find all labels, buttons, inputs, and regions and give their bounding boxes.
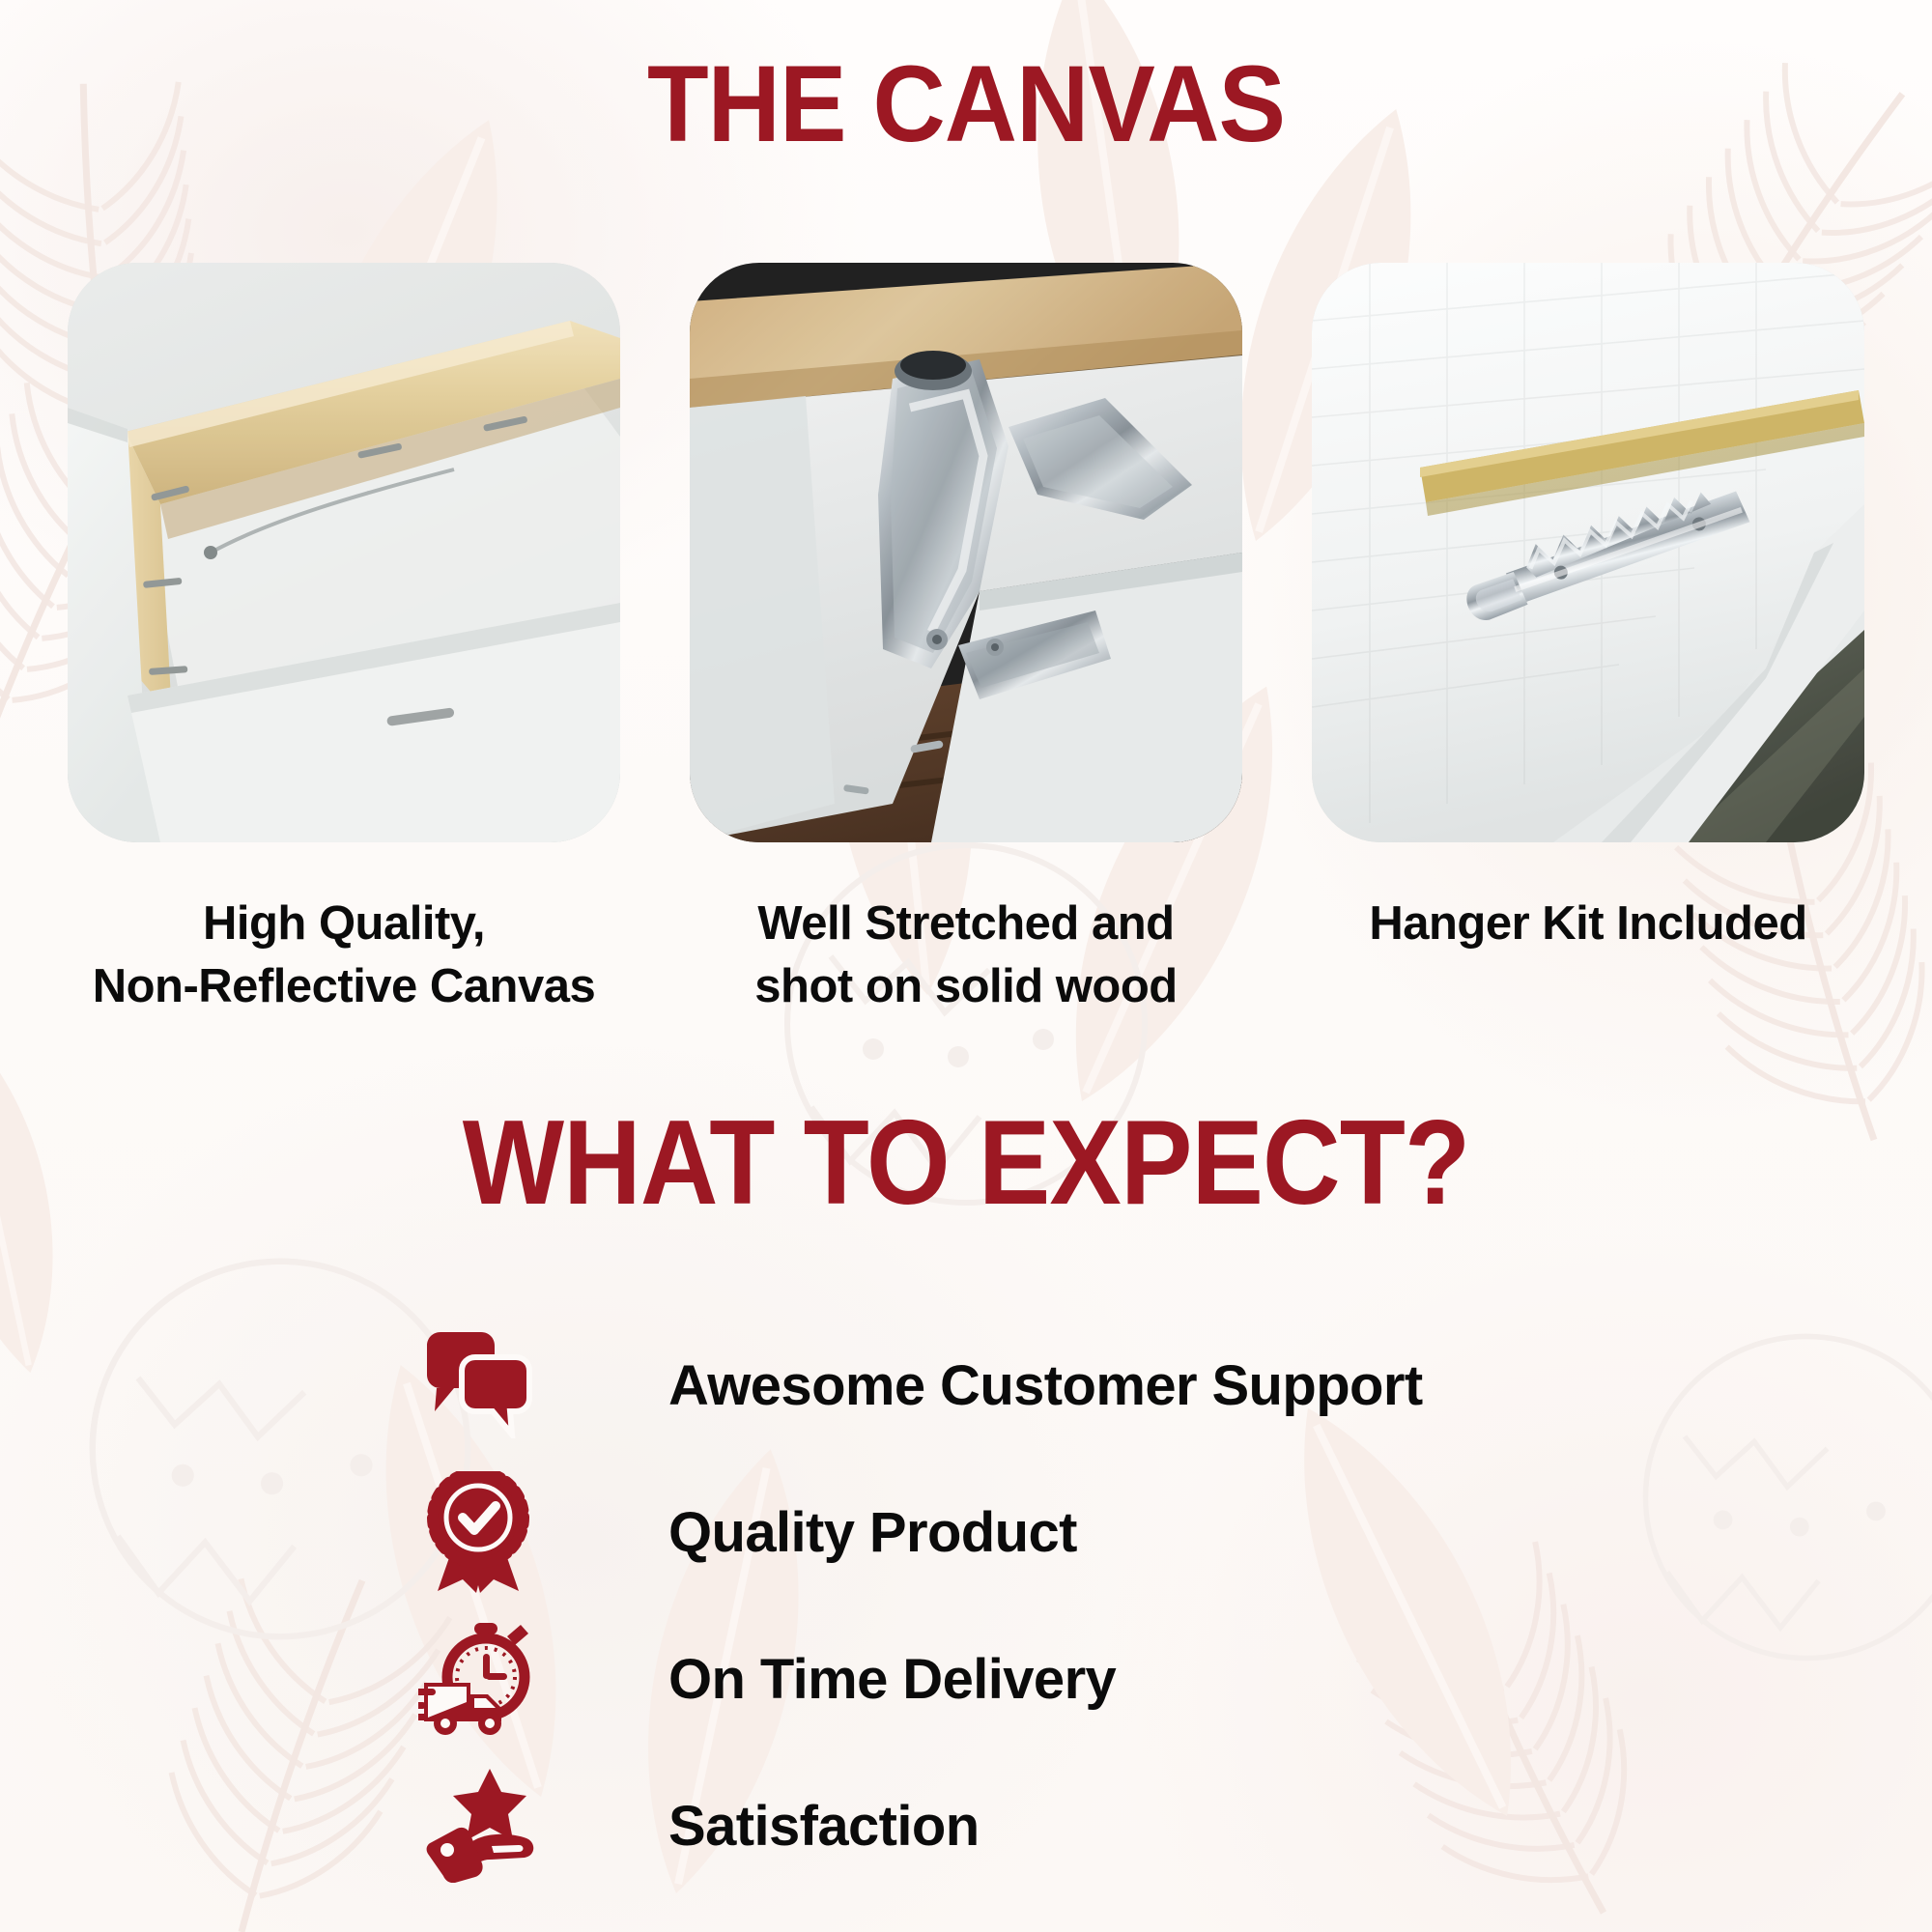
caption-line-1: Hanger Kit Included (1312, 893, 1864, 955)
canvas-feature-caption-3: Hanger Kit Included (1312, 893, 1864, 955)
canvas-feature-caption-1: High Quality, Non-Reflective Canvas (68, 893, 620, 1017)
sawtooth-hanger-kit-photo (1312, 263, 1864, 842)
list-item-satisfaction: Satisfaction (415, 1752, 1671, 1899)
canvas-feature-card-1: High Quality, Non-Reflective Canvas (68, 263, 620, 1017)
list-item-label: On Time Delivery (668, 1647, 1116, 1712)
canvas-feature-card-2: Well Stretched and shot on solid wood (690, 263, 1242, 1017)
list-item-label: Satisfaction (668, 1794, 980, 1859)
canvas-feature-card-3: Hanger Kit Included (1312, 263, 1864, 1017)
list-item-quality-product: Quality Product (415, 1459, 1671, 1605)
stretched-canvas-staple-gun-photo (690, 263, 1242, 842)
expectations-list: Awesome Customer Support Qualit (415, 1312, 1671, 1899)
quality-badge-check-icon (415, 1469, 541, 1595)
caption-line-2: Non-Reflective Canvas (68, 955, 620, 1018)
canvas-feature-photo-row: High Quality, Non-Reflective Canvas (68, 263, 1864, 1017)
list-item-label: Quality Product (668, 1500, 1077, 1565)
page-title-what-to-expect: WHAT TO EXPECT? (97, 1103, 1835, 1223)
caption-line-2: shot on solid wood (690, 955, 1242, 1018)
page-title-the-canvas: THE CANVAS (68, 50, 1864, 158)
list-item-on-time-delivery: On Time Delivery (415, 1605, 1671, 1752)
list-item-customer-support: Awesome Customer Support (415, 1312, 1671, 1459)
canvas-feature-caption-2: Well Stretched and shot on solid wood (690, 893, 1242, 1017)
canvas-back-wooden-frame-photo (68, 263, 620, 842)
chat-bubbles-icon (415, 1322, 541, 1448)
delivery-truck-stopwatch-icon (415, 1616, 541, 1742)
hand-holding-star-icon (415, 1763, 541, 1889)
caption-line-1: Well Stretched and (690, 893, 1242, 955)
caption-line-1: High Quality, (68, 893, 620, 955)
list-item-label: Awesome Customer Support (668, 1353, 1423, 1418)
